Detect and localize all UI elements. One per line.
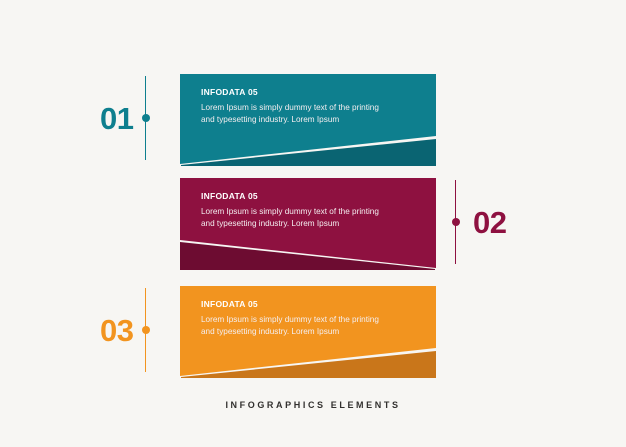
step-panel-3[interactable]: INFODATA 05 Lorem Ipsum is simply dummy … — [180, 286, 436, 378]
step-number-3: 03 — [100, 315, 133, 346]
footer-caption: INFOGRAPHICS ELEMENTS — [0, 400, 626, 410]
step-axis-1 — [145, 76, 146, 160]
infographic-canvas: 01 INFODATA 05 Lorem Ipsum is simply dum… — [0, 0, 626, 447]
panel-title-3: INFODATA 05 — [201, 299, 423, 309]
step-panel-2[interactable]: INFODATA 05 Lorem Ipsum is simply dummy … — [180, 178, 436, 270]
panel-text-1: INFODATA 05 Lorem Ipsum is simply dummy … — [201, 87, 423, 125]
infographic-step-3: 03 INFODATA 05 Lorem Ipsum is simply dum… — [0, 280, 626, 400]
panel-title-1: INFODATA 05 — [201, 87, 423, 97]
step-marker-1: 01 — [100, 68, 146, 168]
axis-dot-icon — [452, 218, 460, 226]
panel-body-1: Lorem Ipsum is simply dummy text of the … — [201, 102, 423, 125]
panel-body-3: Lorem Ipsum is simply dummy text of the … — [201, 314, 423, 337]
step-marker-3: 03 — [100, 280, 146, 380]
step-axis-2 — [455, 180, 456, 264]
step-marker-2: 02 — [455, 172, 506, 272]
infographic-step-1: 01 INFODATA 05 Lorem Ipsum is simply dum… — [0, 68, 626, 188]
panel-title-2: INFODATA 05 — [201, 191, 423, 201]
axis-dot-icon — [142, 114, 150, 122]
step-panel-1[interactable]: INFODATA 05 Lorem Ipsum is simply dummy … — [180, 74, 436, 166]
panel-body-2: Lorem Ipsum is simply dummy text of the … — [201, 206, 423, 229]
infographic-step-2: 02 INFODATA 05 Lorem Ipsum is simply dum… — [0, 172, 626, 292]
panel-text-2: INFODATA 05 Lorem Ipsum is simply dummy … — [201, 191, 423, 229]
axis-dot-icon — [142, 326, 150, 334]
step-number-1: 01 — [100, 103, 133, 134]
step-number-2: 02 — [473, 207, 506, 238]
step-axis-3 — [145, 288, 146, 372]
panel-text-3: INFODATA 05 Lorem Ipsum is simply dummy … — [201, 299, 423, 337]
